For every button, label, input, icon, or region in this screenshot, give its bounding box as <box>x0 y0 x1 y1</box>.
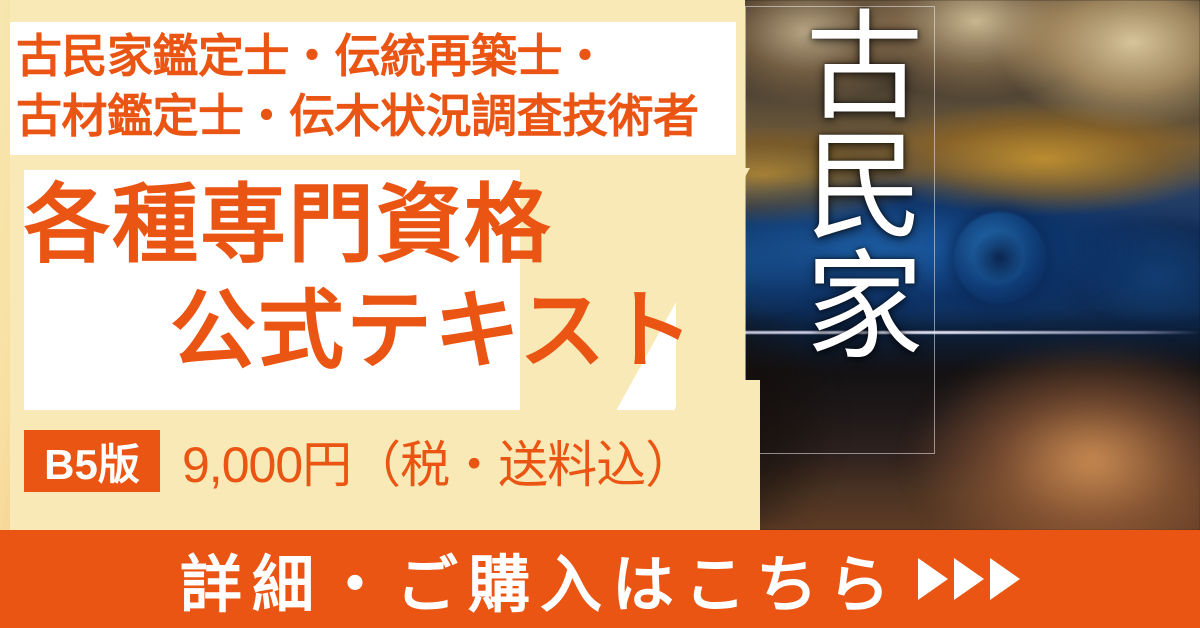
format-badge: B5版 <box>24 430 160 492</box>
price-row: B5版 9,000円（税・送料込） <box>24 430 694 492</box>
chevron-right-icon <box>954 558 984 600</box>
chevron-right-icon <box>990 558 1020 600</box>
certification-line-1: 古民家鑑定士・伝統再築士・ <box>16 26 736 86</box>
certification-line-2: 古材鑑定士・伝木状況調査技術者 <box>16 86 736 146</box>
cta-bar[interactable]: 詳細・ご購入はこちら <box>0 530 1200 628</box>
headline-line-2: 公式テキスト <box>170 288 695 374</box>
certification-list: 古民家鑑定士・伝統再築士・ 古材鑑定士・伝木状況調査技術者 <box>16 26 736 146</box>
headline-line-1: 各種専門資格 <box>24 182 552 268</box>
book-cover-title: 古民家 <box>758 4 922 364</box>
cta-label: 詳細・ご購入はこちら <box>180 534 900 624</box>
cta-arrow-group <box>918 558 1020 600</box>
promo-banner[interactable]: 伝統構法、古民家活用のための調査と再生の 古民家 古民家鑑定士・伝統再築士・ 古… <box>0 0 1200 628</box>
price-amount: 9,000円（税・送料込） <box>182 425 694 497</box>
chevron-right-icon <box>918 558 948 600</box>
roof-tile-medallion <box>954 212 1046 304</box>
